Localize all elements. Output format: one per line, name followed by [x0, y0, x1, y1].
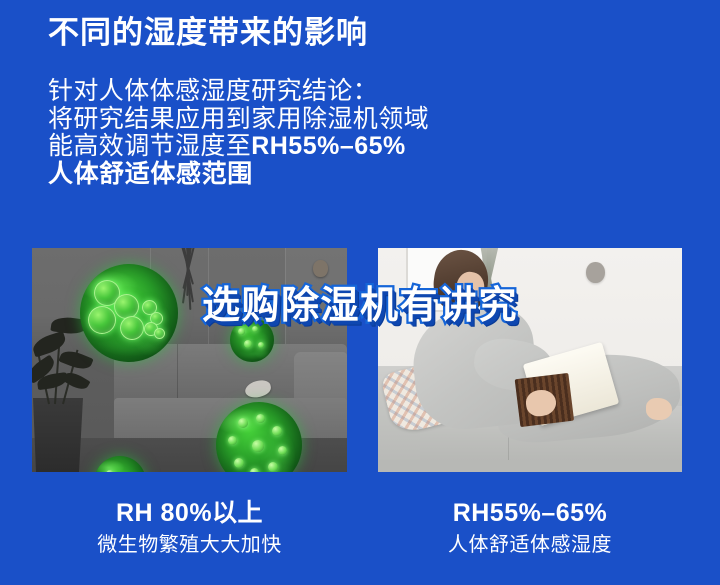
caption-row: RH 80%以上 微生物繁殖大大加快 RH55%–65% 人体舒适体感湿度 — [0, 498, 720, 578]
virus-spore — [234, 458, 244, 468]
overlay-headline: 选购除湿机有讲究 — [0, 274, 720, 329]
caption-left-title: RH 80%以上 — [32, 498, 347, 528]
intro-paragraph: 针对人体体感湿度研究结论： 将研究结果应用到家用除湿机领域 能高效调节湿度至RH… — [48, 78, 688, 188]
caption-right-subtitle: 人体舒适体感湿度 — [378, 533, 682, 557]
virus-spore — [272, 426, 282, 436]
bacteria-cell — [154, 328, 165, 339]
caption-left: RH 80%以上 微生物繁殖大大加快 — [32, 498, 347, 557]
floor — [378, 460, 682, 472]
intro-line-3: 能高效调节湿度至RH55%–65% — [48, 133, 688, 161]
header: 不同的湿度带来的影响 — [48, 14, 688, 53]
virus-spore — [250, 468, 259, 472]
virus-spore — [258, 342, 264, 348]
virus-spore — [256, 414, 265, 423]
virus-spore — [238, 328, 245, 335]
plant-pot — [33, 398, 83, 472]
virus-spore — [238, 418, 248, 428]
intro-line-3-prefix: 能高效调节湿度至 — [48, 132, 251, 160]
person-foot — [646, 398, 672, 420]
poster-root: 不同的湿度带来的影响 针对人体体感湿度研究结论： 将研究结果应用到家用除湿机领域… — [0, 0, 720, 585]
virus-spore — [106, 470, 114, 472]
caption-right-title: RH55%–65% — [378, 498, 682, 528]
virus-spore — [268, 462, 278, 472]
intro-line-1: 针对人体体感湿度研究结论： — [48, 78, 688, 106]
intro-humidity-range: RH55%–65% — [251, 132, 406, 160]
caption-left-subtitle: 微生物繁殖大大加快 — [32, 533, 347, 557]
caption-right: RH55%–65% 人体舒适体感湿度 — [378, 498, 682, 557]
virus-spore — [244, 340, 252, 348]
page-title: 不同的湿度带来的影响 — [48, 14, 688, 53]
virus-spore — [278, 446, 287, 455]
virus-spore — [228, 436, 237, 445]
virus-spore — [252, 440, 264, 452]
intro-line-2: 将研究结果应用到家用除湿机领域 — [48, 106, 688, 134]
intro-line-4: 人体舒适体感范围 — [48, 161, 688, 189]
